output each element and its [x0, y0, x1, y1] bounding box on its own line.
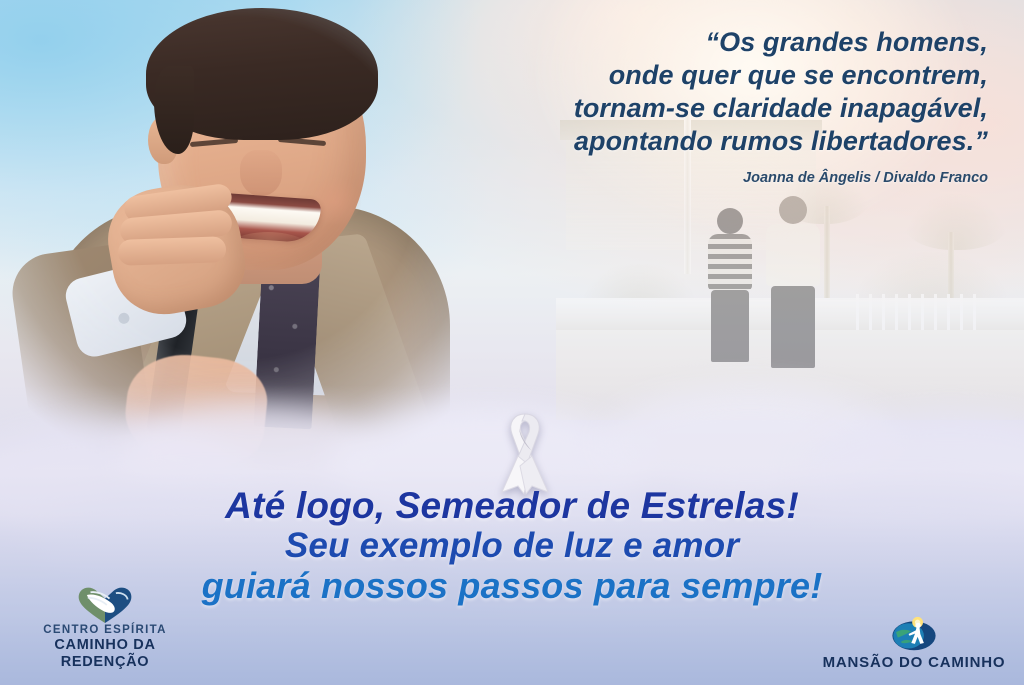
portrait-fade-mask [6, 0, 476, 470]
quote-line-1: “Os grandes homens, [428, 26, 988, 59]
headline-line-1: Até logo, Semeador de Estrelas! [0, 486, 1024, 526]
memorial-poster: “Os grandes homens, onde quer que se enc… [0, 0, 1024, 685]
quote-line-4: apontando rumos libertadores.” [428, 125, 988, 158]
logo-right-name: MANSÃO DO CAMINHO [814, 654, 1014, 671]
portrait-nose [240, 150, 282, 196]
logo-mansao-do-caminho: MANSÃO DO CAMINHO [814, 614, 1014, 671]
background-railing [856, 294, 986, 334]
portrait-finger [118, 236, 227, 266]
background-figure-child [708, 208, 752, 362]
quote-attribution: Joanna de Ângelis / Divaldo Franco [428, 170, 988, 186]
logo-left-line-2: CAMINHO DA REDENÇÃO [10, 637, 200, 671]
palm-frond-icon [904, 194, 1008, 250]
portrait-photo [6, 0, 476, 470]
figure-torso [708, 234, 752, 290]
heart-hands-icon [10, 584, 200, 624]
logo-centro-espirita: CENTRO ESPÍRITA CAMINHO DA REDENÇÃO [10, 584, 200, 671]
figure-torso [766, 224, 820, 286]
quote-line-3: tornam-se claridade inapagável, [428, 92, 988, 125]
quote-block: “Os grandes homens, onde quer que se enc… [428, 26, 988, 186]
figure-head [779, 196, 807, 224]
logo-left-line-1: CENTRO ESPÍRITA [10, 624, 200, 637]
globe-figure-icon [814, 614, 1014, 654]
white-ribbon-icon [488, 410, 562, 496]
background-figure-adult [766, 196, 820, 368]
portrait-hair [146, 8, 378, 140]
figure-legs [771, 286, 815, 368]
quote-line-2: onde quer que se encontrem, [428, 59, 988, 92]
headline-line-2: Seu exemplo de luz e amor [0, 526, 1024, 566]
figure-legs [711, 290, 749, 362]
figure-head [717, 208, 743, 234]
